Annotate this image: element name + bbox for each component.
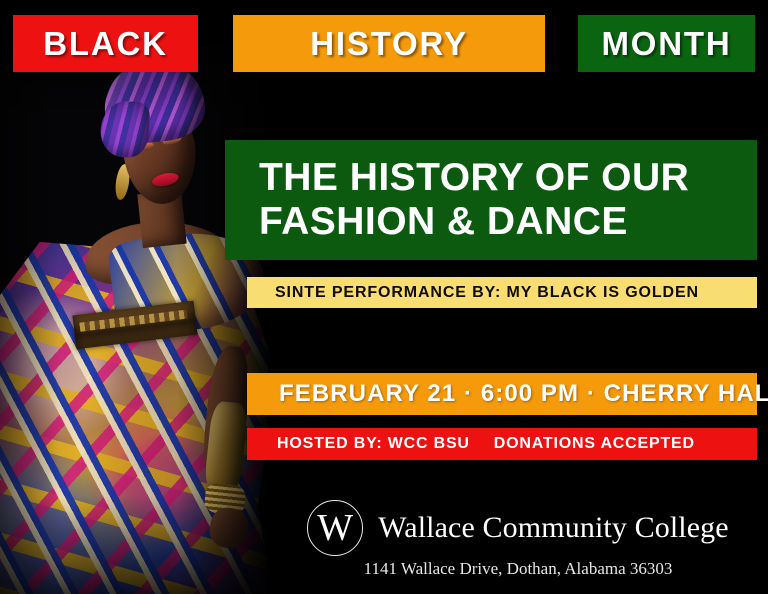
event-title-line-1: THE HISTORY OF OUR — [259, 156, 757, 200]
event-title-block: THE HISTORY OF OUR FASHION & DANCE — [225, 140, 757, 260]
hosted-by-banner: HOSTED BY: WCC BSU DONATIONS ACCEPTED — [247, 428, 757, 460]
hosted-by-text: HOSTED BY: WCC BSU — [277, 435, 470, 453]
black-history-month-poster: BLACK HISTORY MONTH THE HISTORY OF OUR F… — [0, 0, 768, 594]
header-chip-black: BLACK — [13, 15, 198, 72]
header-chip-month: MONTH — [578, 15, 755, 72]
donations-text: DONATIONS ACCEPTED — [494, 435, 695, 453]
model-photo — [0, 46, 268, 594]
logo-row: W Wallace Community College — [307, 500, 729, 556]
footer-address: 1141 Wallace Drive, Dothan, Alabama 3630… — [364, 559, 673, 579]
organization-name: Wallace Community College — [378, 511, 729, 545]
event-title-line-2: FASHION & DANCE — [259, 200, 757, 244]
wallace-w-monogram-icon: W — [307, 500, 363, 556]
footer-logo-block: W Wallace Community College 1141 Wallace… — [268, 500, 768, 590]
date-time-location-banner: FEBRUARY 21 · 6:00 PM · CHERRY HALL — [247, 373, 757, 415]
model-lips — [151, 171, 180, 189]
header-chip-history: HISTORY — [233, 15, 545, 72]
performance-banner: SINTE PERFORMANCE BY: MY BLACK IS GOLDEN — [247, 277, 757, 308]
